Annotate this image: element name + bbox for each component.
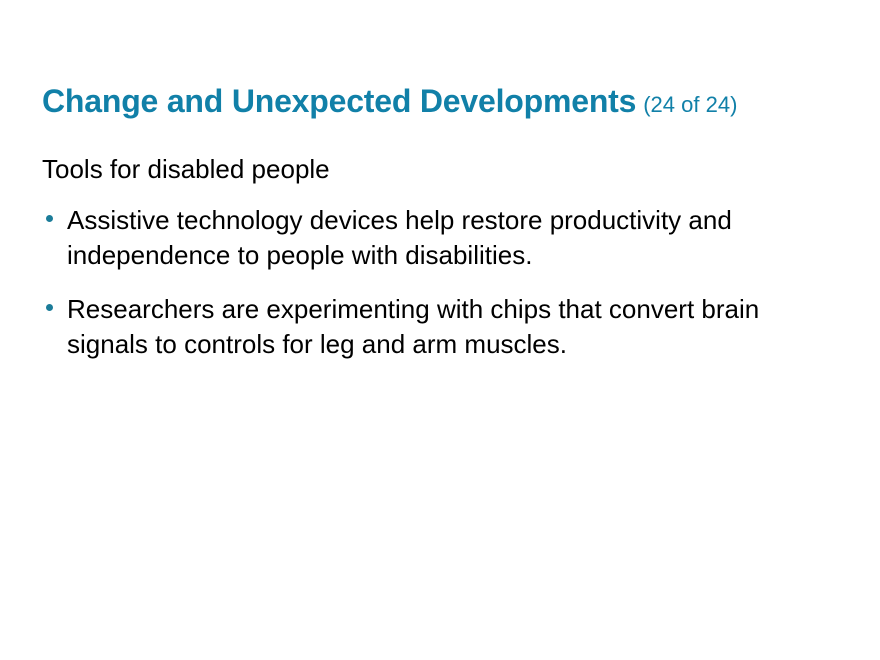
slide-subhead: Tools for disabled people xyxy=(42,153,330,186)
bullet-list-item: Researchers are experimenting with chips… xyxy=(42,292,842,362)
slide-title-main: Change and Unexpected Developments xyxy=(42,83,636,119)
bullet-list-item-text: Assistive technology devices help restor… xyxy=(67,203,842,273)
bullet-list-item-text: Researchers are experimenting with chips… xyxy=(67,292,842,362)
bullet-dot-icon xyxy=(46,215,53,222)
bullet-list: Assistive technology devices help restor… xyxy=(42,203,842,362)
presentation-slide: Change and Unexpected Developments(24 of… xyxy=(0,0,880,660)
bullet-dot-icon xyxy=(46,304,53,311)
slide-title-count: (24 of 24) xyxy=(643,92,737,117)
slide-title: Change and Unexpected Developments(24 of… xyxy=(42,84,862,120)
bullet-list-item: Assistive technology devices help restor… xyxy=(42,203,842,273)
